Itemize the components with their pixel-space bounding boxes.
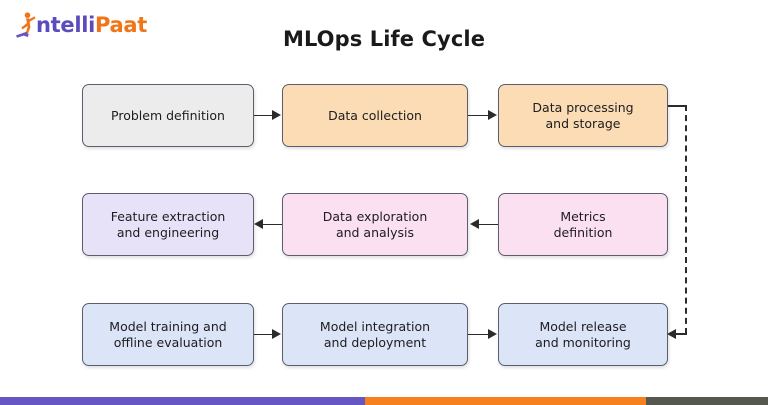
edge-metrics-to-exploration-arrowhead: [470, 219, 479, 229]
edge-processing-to-release-arrowhead: [667, 329, 676, 339]
node-label: Problem definition: [111, 108, 225, 124]
node-feature-extraction-and-engineering: Feature extractionand engineering: [82, 193, 254, 256]
footer-segment-purple: [0, 397, 365, 405]
edge-training-to-integration: [254, 334, 274, 336]
node-metrics-definition: Metricsdefinition: [498, 193, 668, 256]
edge-processing-to-release-stub: [668, 105, 686, 107]
mlops-lifecycle-diagram: Problem definition Data collection Data …: [0, 0, 768, 405]
node-data-collection: Data collection: [282, 84, 468, 147]
node-model-integration-and-deployment: Model integrationand deployment: [282, 303, 468, 366]
edge-processing-to-release-horizontal: [676, 333, 687, 335]
edge-integration-to-release-arrowhead: [488, 329, 497, 339]
node-label: Model integrationand deployment: [320, 319, 430, 351]
node-data-processing-and-storage: Data processingand storage: [498, 84, 668, 147]
edge-integration-to-release: [468, 334, 489, 336]
edge-processing-to-release-vertical: [685, 105, 687, 334]
node-data-exploration-and-analysis: Data explorationand analysis: [282, 193, 468, 256]
node-label: Feature extractionand engineering: [111, 209, 226, 241]
node-label: Data explorationand analysis: [323, 209, 428, 241]
edge-problem-to-collection: [254, 115, 274, 117]
node-label: Data collection: [328, 108, 422, 124]
edge-exploration-to-feature-arrowhead: [254, 219, 263, 229]
node-label: Data processingand storage: [532, 100, 633, 132]
edge-exploration-to-feature: [263, 224, 282, 226]
edge-training-to-integration-arrowhead: [272, 329, 281, 339]
footer-segment-dark: [646, 397, 768, 405]
node-model-training-and-offline-evaluation: Model training andoffline evaluation: [82, 303, 254, 366]
edge-metrics-to-exploration: [479, 224, 498, 226]
footer-accent-bar: [0, 397, 768, 405]
node-label: Model releaseand monitoring: [535, 319, 631, 351]
node-model-release-and-monitoring: Model releaseand monitoring: [498, 303, 668, 366]
edge-problem-to-collection-arrowhead: [272, 110, 281, 120]
edge-collection-to-processing: [468, 115, 489, 117]
footer-segment-orange: [365, 397, 646, 405]
node-label: Model training andoffline evaluation: [109, 319, 226, 351]
edge-collection-to-processing-arrowhead: [488, 110, 497, 120]
node-label: Metricsdefinition: [554, 209, 613, 241]
node-problem-definition: Problem definition: [82, 84, 254, 147]
